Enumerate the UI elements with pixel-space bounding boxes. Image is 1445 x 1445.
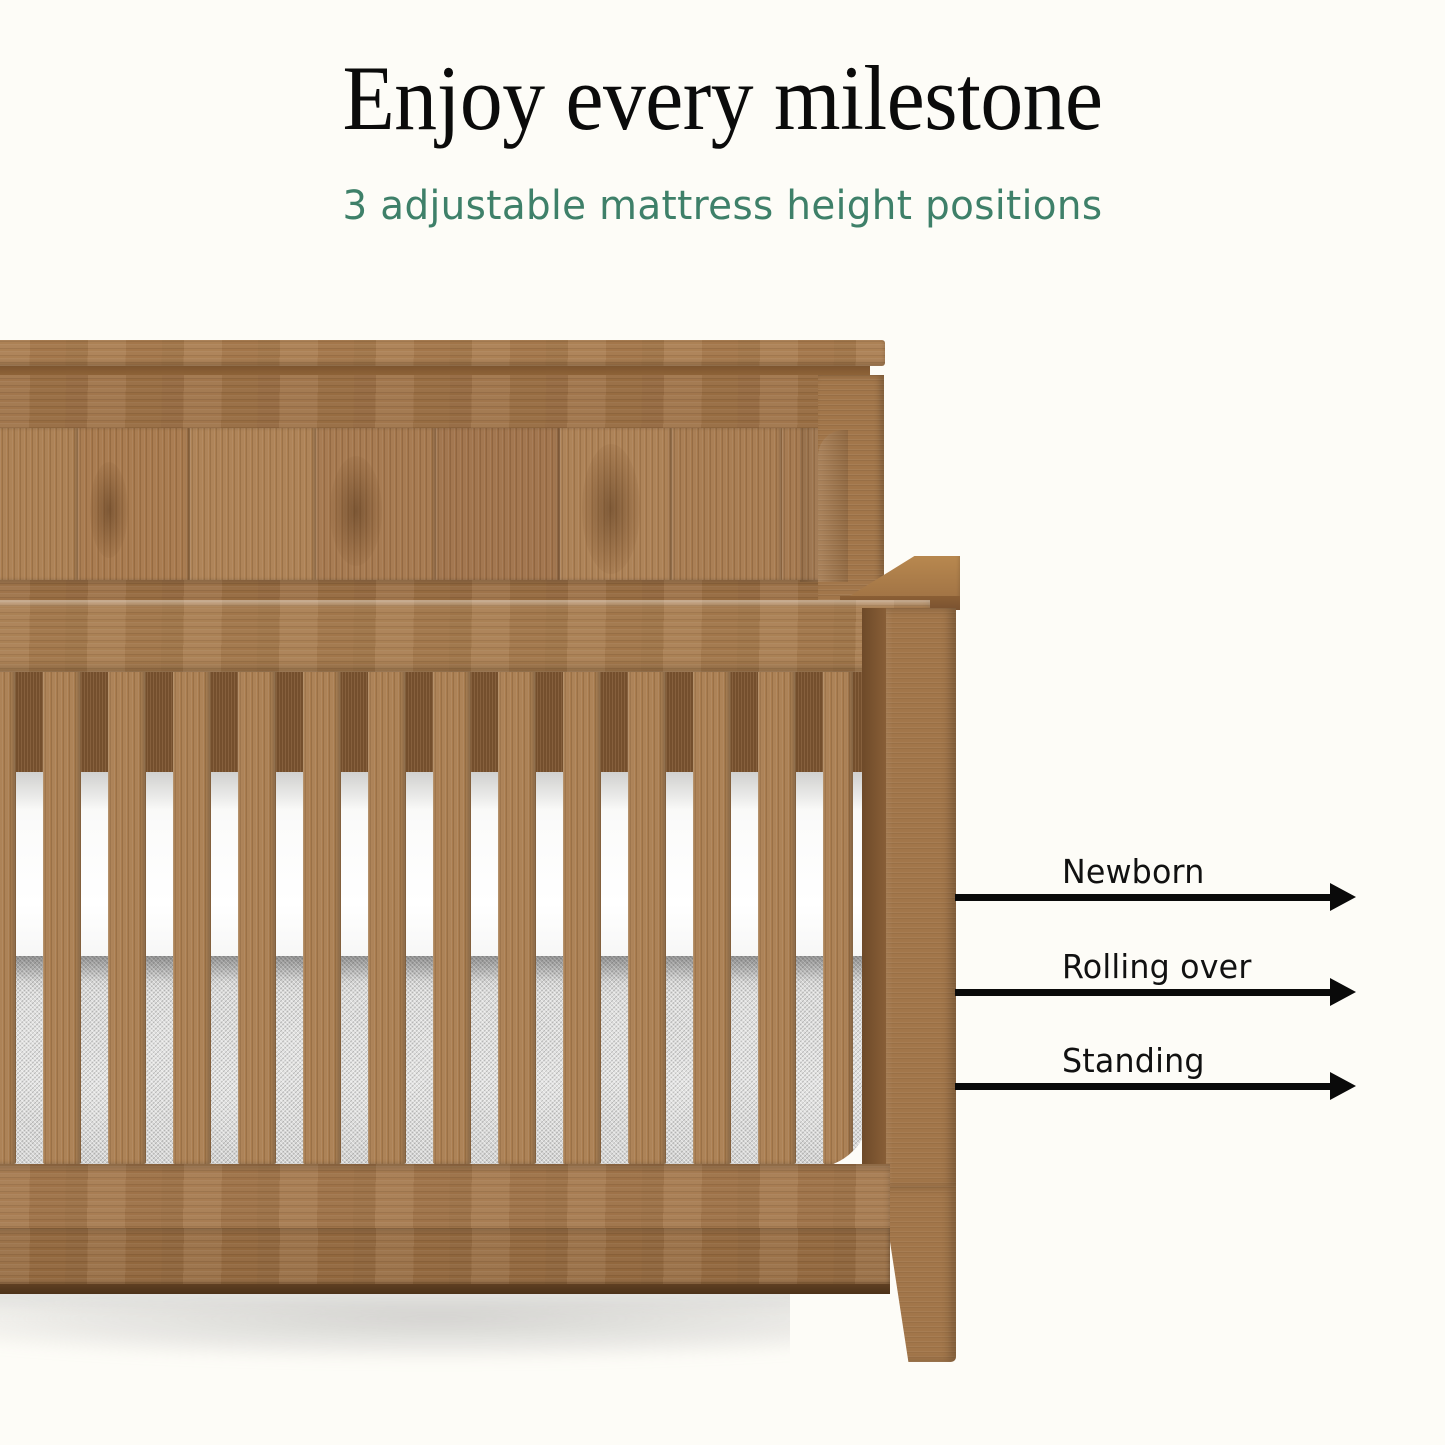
front-top-rail <box>0 600 930 672</box>
crib-slat <box>758 668 796 1164</box>
corner-post-front-face <box>886 608 956 1188</box>
annotation-newborn-line <box>955 894 1335 901</box>
headboard-cap-edge <box>0 366 870 375</box>
headboard-post-inner-face <box>818 430 848 582</box>
annotation-rolling-over-label: Rolling over <box>1062 947 1252 986</box>
crib-slat <box>173 668 211 1164</box>
crib-slat <box>628 668 666 1164</box>
headboard-upper-rail <box>0 375 850 431</box>
crib-slat <box>108 668 146 1164</box>
front-base-rail-edge <box>0 1284 890 1294</box>
annotation-newborn-label: Newborn <box>1062 852 1204 891</box>
crib-slat <box>0 668 16 1164</box>
crib-slat <box>433 668 471 1164</box>
headboard-plank-panel <box>0 428 822 580</box>
annotation-standing-line <box>955 1083 1335 1090</box>
crib-slat <box>563 668 601 1164</box>
front-bottom-rail <box>0 1164 890 1230</box>
front-base-rail <box>0 1228 890 1286</box>
arrow-right-icon <box>1330 883 1356 911</box>
crib-slat <box>498 668 536 1164</box>
annotation-standing-label: Standing <box>1062 1041 1205 1080</box>
crib-product-image <box>0 0 1000 1400</box>
crib-slat <box>693 668 731 1164</box>
arrow-right-icon <box>1330 1072 1356 1100</box>
crib-slat <box>368 668 406 1164</box>
front-top-rail-highlight <box>0 600 930 608</box>
arrow-right-icon <box>1330 978 1356 1006</box>
infographic-canvas: Enjoy every milestone 3 adjustable mattr… <box>0 0 1445 1445</box>
corner-leg <box>886 1186 956 1362</box>
crib-slat <box>43 668 81 1164</box>
headboard-top-cap <box>0 340 885 366</box>
corner-post-side-face <box>862 608 888 1188</box>
crib-slat <box>823 668 853 1164</box>
annotation-rolling-over-line <box>955 989 1335 996</box>
crib-slat <box>303 668 341 1164</box>
crib-slat <box>238 668 276 1164</box>
